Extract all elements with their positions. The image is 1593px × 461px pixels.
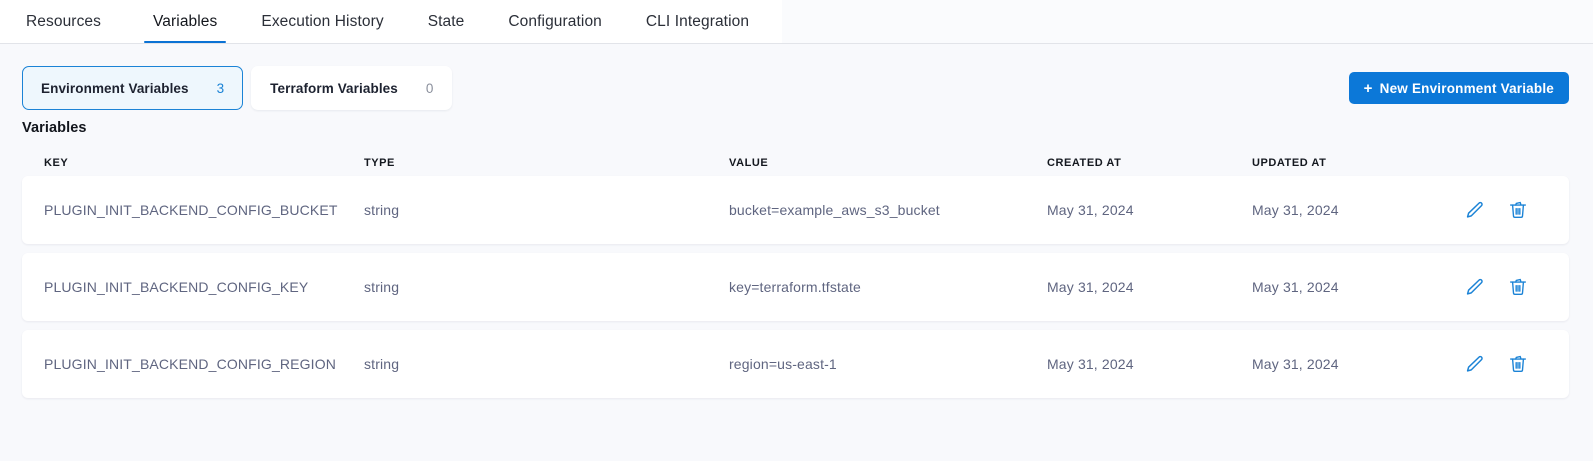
variables-table: KEY TYPE VALUE CREATED AT UPDATED AT PLU… (22, 150, 1569, 398)
edit-variable-button[interactable] (1462, 275, 1486, 299)
column-header-value: VALUE (729, 157, 1047, 169)
cell-key: PLUGIN_INIT_BACKEND_CONFIG_REGION (44, 356, 364, 372)
nav-tab-label: Configuration (508, 13, 602, 31)
nav-tab-label: Resources (26, 13, 101, 31)
variables-page: Environment Variables 3 Terraform Variab… (0, 44, 1593, 461)
topnav-tab-list: Resources Variables Execution History St… (0, 0, 771, 43)
tab-environment-variables[interactable]: Environment Variables 3 (22, 66, 243, 110)
cell-created-at: May 31, 2024 (1047, 356, 1252, 372)
trash-icon (1507, 199, 1529, 221)
tab-count-badge: 3 (217, 81, 225, 96)
cell-updated-at: May 31, 2024 (1252, 202, 1462, 218)
nav-tab-execution-history[interactable]: Execution History (239, 0, 405, 43)
row-actions (1462, 352, 1552, 376)
cell-created-at: May 31, 2024 (1047, 202, 1252, 218)
nav-tab-variables[interactable]: Variables (131, 0, 239, 43)
table-header-row: KEY TYPE VALUE CREATED AT UPDATED AT (22, 150, 1569, 176)
nav-tab-state[interactable]: State (406, 0, 487, 43)
cell-type: string (364, 356, 729, 372)
pencil-icon (1463, 353, 1485, 375)
pencil-icon (1463, 199, 1485, 221)
tab-terraform-variables[interactable]: Terraform Variables 0 (251, 66, 452, 110)
column-header-key: KEY (44, 157, 364, 169)
cell-created-at: May 31, 2024 (1047, 279, 1252, 295)
tab-count-badge: 0 (426, 81, 434, 96)
nav-tab-label: CLI Integration (646, 13, 749, 31)
section-title: Variables (22, 120, 1569, 136)
edit-variable-button[interactable] (1462, 198, 1486, 222)
variable-type-tabs: Environment Variables 3 Terraform Variab… (22, 66, 452, 110)
new-environment-variable-label: New Environment Variable (1380, 81, 1554, 96)
table-row[interactable]: PLUGIN_INIT_BACKEND_CONFIG_REGION string… (22, 330, 1569, 398)
new-environment-variable-button[interactable]: + New Environment Variable (1349, 72, 1569, 104)
top-navigation-bar: Resources Variables Execution History St… (0, 0, 1593, 44)
nav-tab-resources[interactable]: Resources (26, 0, 131, 43)
cell-key: PLUGIN_INIT_BACKEND_CONFIG_KEY (44, 279, 364, 295)
trash-icon (1507, 353, 1529, 375)
tab-label: Environment Variables (41, 81, 189, 96)
cell-value: region=us-east-1 (729, 356, 1047, 372)
edit-variable-button[interactable] (1462, 352, 1486, 376)
cell-value: key=terraform.tfstate (729, 279, 1047, 295)
pencil-icon (1463, 276, 1485, 298)
cell-updated-at: May 31, 2024 (1252, 356, 1462, 372)
delete-variable-button[interactable] (1506, 198, 1530, 222)
row-actions (1462, 198, 1552, 222)
column-header-created-at: CREATED AT (1047, 157, 1252, 169)
delete-variable-button[interactable] (1506, 352, 1530, 376)
row-actions (1462, 275, 1552, 299)
cell-key: PLUGIN_INIT_BACKEND_CONFIG_BUCKET (44, 202, 364, 218)
plus-icon: + (1364, 81, 1373, 96)
tab-label: Terraform Variables (270, 81, 398, 96)
nav-tab-label: Execution History (261, 13, 383, 31)
nav-tab-cli-integration[interactable]: CLI Integration (624, 0, 771, 43)
cell-type: string (364, 202, 729, 218)
nav-tab-label: Variables (153, 13, 217, 31)
cell-updated-at: May 31, 2024 (1252, 279, 1462, 295)
cell-value: bucket=example_aws_s3_bucket (729, 202, 1047, 218)
trash-icon (1507, 276, 1529, 298)
column-header-updated-at: UPDATED AT (1252, 157, 1462, 169)
table-row[interactable]: PLUGIN_INIT_BACKEND_CONFIG_BUCKET string… (22, 176, 1569, 244)
column-header-type: TYPE (364, 157, 729, 169)
variables-toolbar: Environment Variables 3 Terraform Variab… (22, 66, 1569, 110)
cell-type: string (364, 279, 729, 295)
nav-tab-configuration[interactable]: Configuration (486, 0, 624, 43)
table-row[interactable]: PLUGIN_INIT_BACKEND_CONFIG_KEY string ke… (22, 253, 1569, 321)
nav-tab-label: State (428, 13, 465, 31)
delete-variable-button[interactable] (1506, 275, 1530, 299)
